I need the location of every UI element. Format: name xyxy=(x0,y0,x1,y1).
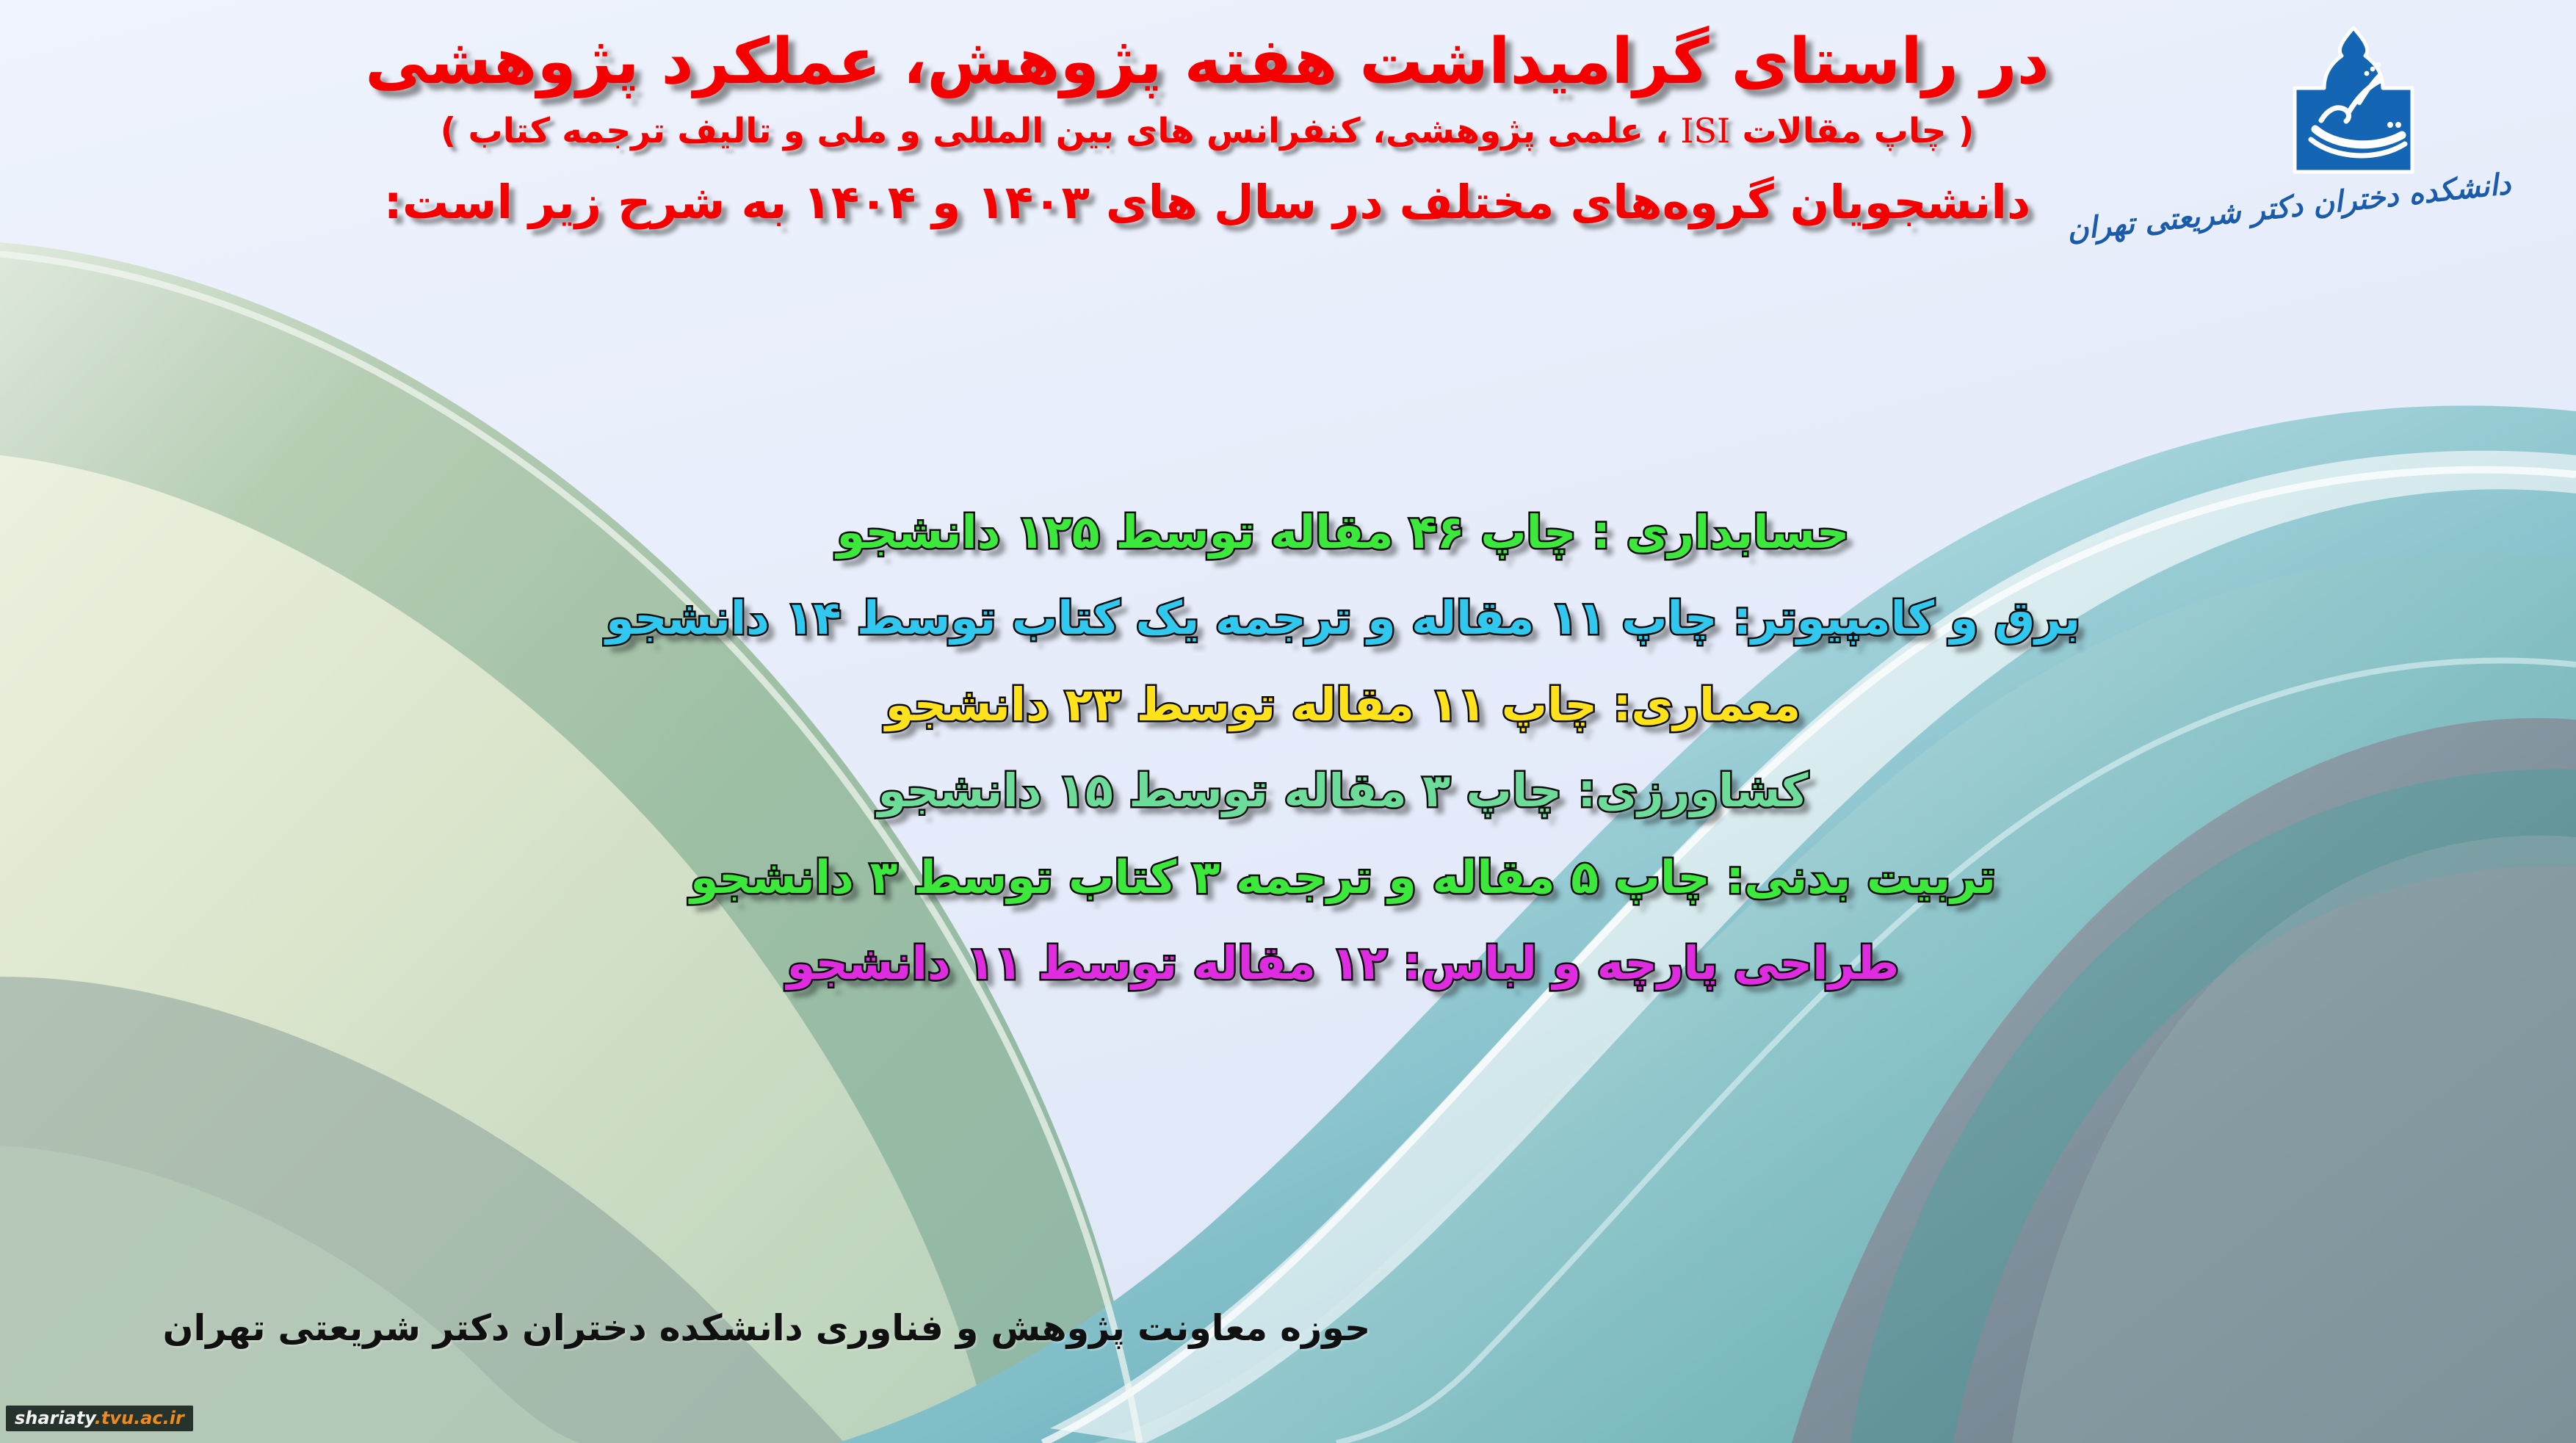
poster-title-line3: دانشجویان گروه‌های مختلف در سال های ۱۴۰۳… xyxy=(220,175,2194,231)
poster-header: دانشکده دختران دکتر شریعتی تهران در راست… xyxy=(0,0,2576,345)
poster-footer: حوزه معاونت پژوهش و فناوری دانشکده دخترا… xyxy=(0,1307,2576,1349)
result-text-agriculture: کشاورزی: چاپ ۳ مقاله توسط ۱۵ دانشجو xyxy=(878,765,1809,816)
university-logo-block: دانشکده دختران دکتر شریعتی تهران xyxy=(2196,18,2511,326)
watermark-site-name: shariaty xyxy=(15,1408,95,1428)
poster-subtitle: ( چاپ مقالات ISI ، علمی پژوهشی، کنفرانس … xyxy=(220,111,2194,152)
result-text-physical-education: تربیت بدنی: چاپ ۵ مقاله و ترجمه ۳ کتاب ت… xyxy=(690,852,1996,903)
footer-issuer-text: حوزه معاونت پژوهش و فناوری دانشکده دخترا… xyxy=(163,1307,1371,1349)
result-row-architecture: معماری: چاپ ۱۱ مقاله توسط ۲۳ دانشجو xyxy=(235,679,2451,730)
result-row-agriculture: کشاورزی: چاپ ۳ مقاله توسط ۱۵ دانشجو xyxy=(235,765,2451,816)
result-text-accounting: حسابداری : چاپ ۴۶ مقاله توسط ۱۲۵ دانشجو xyxy=(837,507,1850,557)
site-watermark: shariaty.tvu.ac.ir xyxy=(6,1406,193,1431)
university-emblem-icon xyxy=(2273,18,2434,176)
result-row-electrical-and-computer: برق و کامپیوتر: چاپ ۱۱ مقاله و ترجمه یک … xyxy=(235,593,2451,643)
department-results-list: حسابداری : چاپ ۴۶ مقاله توسط ۱۲۵ دانشجو … xyxy=(0,507,2576,1024)
faculty-name-calligraphy: دانشکده دختران دکتر شریعتی تهران xyxy=(2195,167,2513,234)
result-row-physical-education: تربیت بدنی: چاپ ۵ مقاله و ترجمه ۳ کتاب ت… xyxy=(235,852,2451,903)
subtitle-prefix: ( چاپ مقالات xyxy=(1743,111,1975,151)
poster-canvas: دانشکده دختران دکتر شریعتی تهران در راست… xyxy=(0,0,2576,1443)
result-text-textile-and-clothing-design: طراحی پارچه و لباس: ۱۲ مقاله توسط ۱۱ دان… xyxy=(787,938,1900,988)
subtitle-suffix: ، علمی پژوهشی، کنفرانس های بین المللی و … xyxy=(441,111,1668,151)
result-row-accounting: حسابداری : چاپ ۴۶ مقاله توسط ۱۲۵ دانشجو xyxy=(235,507,2451,557)
result-row-textile-and-clothing-design: طراحی پارچه و لباس: ۱۲ مقاله توسط ۱۱ دان… xyxy=(235,938,2451,988)
title-column: در راستای گرامیداشت هفته پژوهش، عملکرد پ… xyxy=(220,25,2194,230)
result-text-electrical-and-computer: برق و کامپیوتر: چاپ ۱۱ مقاله و ترجمه یک … xyxy=(606,593,2080,643)
result-text-architecture: معماری: چاپ ۱۱ مقاله توسط ۲۳ دانشجو xyxy=(886,679,1801,730)
watermark-site-domain: .tvu.ac.ir xyxy=(95,1408,184,1428)
subtitle-isi-label: ISI xyxy=(1680,111,1730,151)
poster-title: در راستای گرامیداشت هفته پژوهش، عملکرد پ… xyxy=(220,25,2194,99)
